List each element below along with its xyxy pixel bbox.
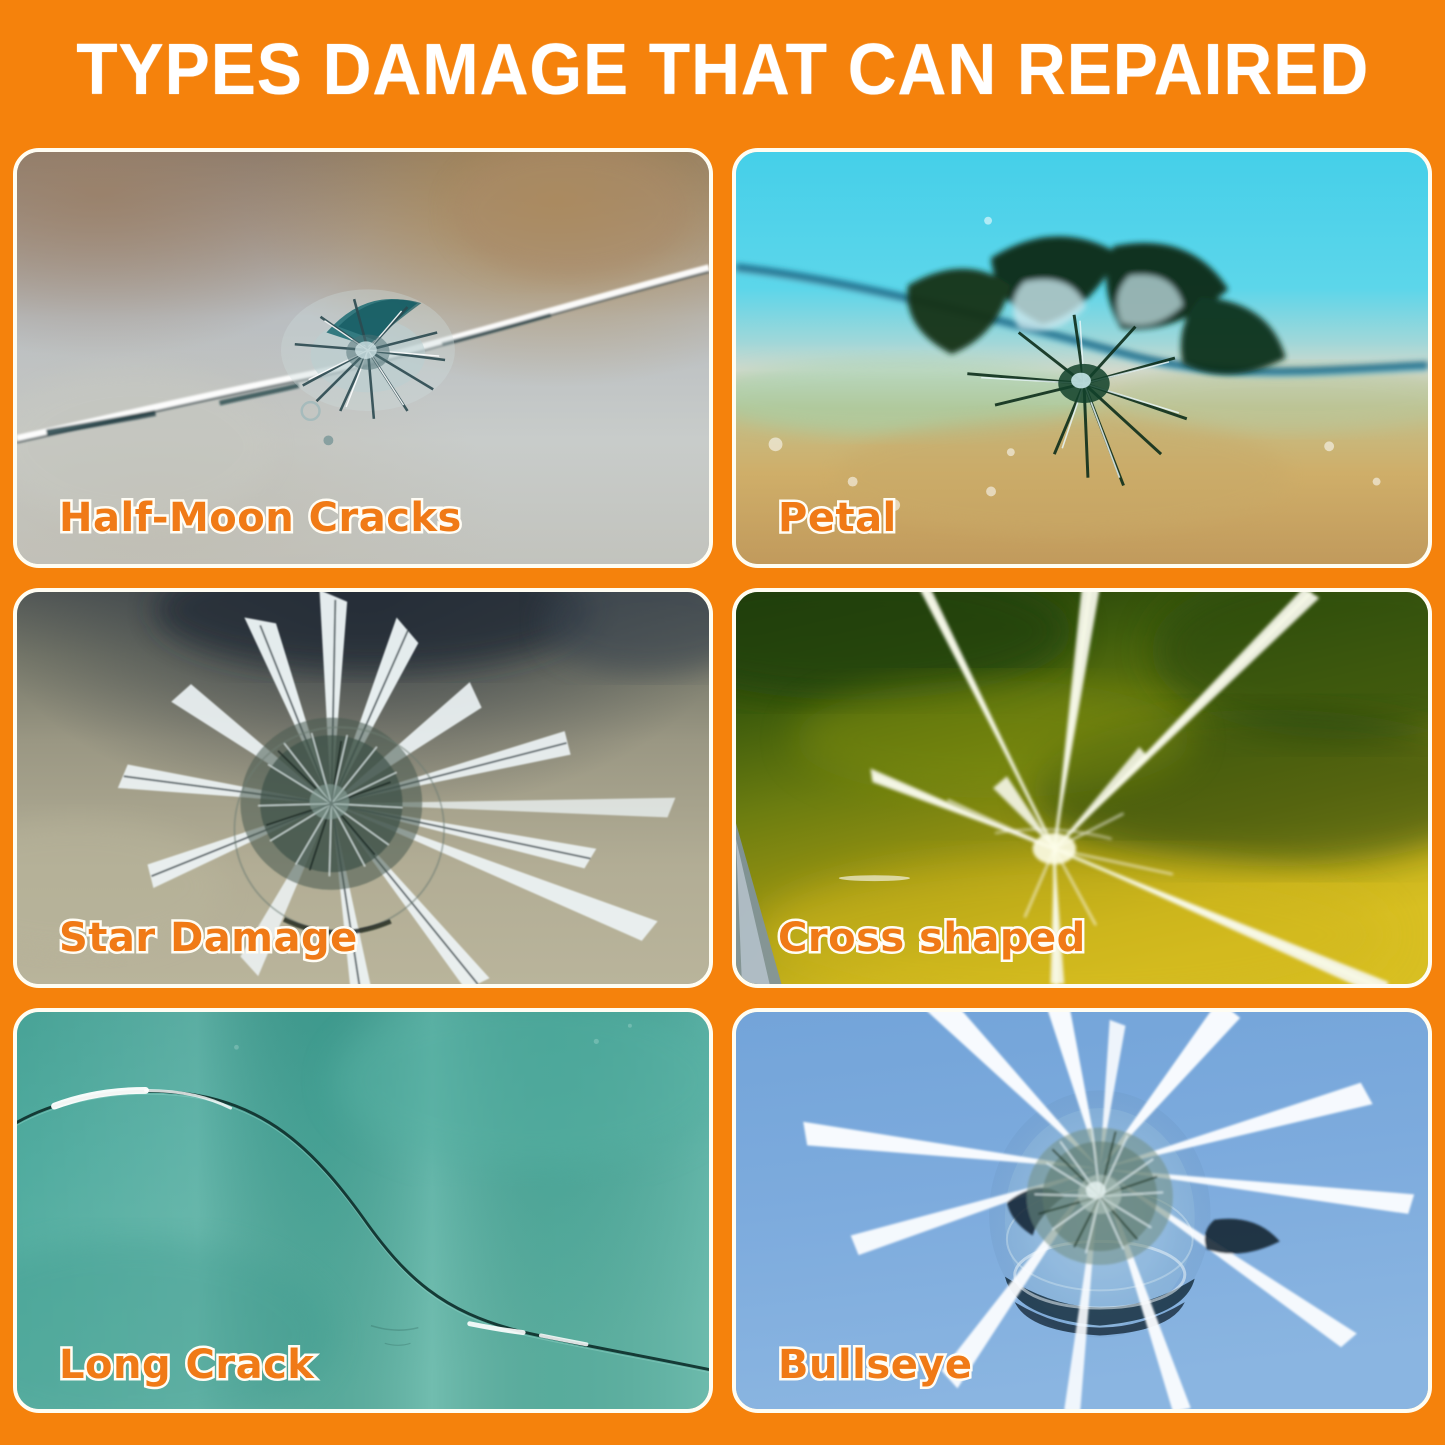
- panel-long-crack[interactable]: Long Crack: [13, 1008, 713, 1413]
- panel-label-cross-shaped: Cross shaped: [778, 918, 1086, 958]
- panel-label-petal: Petal: [778, 498, 897, 538]
- panel-label-half-moon-cracks: Half-Moon Cracks: [59, 498, 462, 538]
- panel-petal[interactable]: Petal: [732, 148, 1432, 568]
- panel-cross-shaped[interactable]: Cross shaped: [732, 588, 1432, 988]
- panel-label-long-crack: Long Crack: [59, 1345, 314, 1385]
- poster-root: TYPES DAMAGE THAT CAN REPAIRED: [0, 0, 1445, 1445]
- panel-star-damage[interactable]: Star Damage: [13, 588, 713, 988]
- panel-half-moon-cracks[interactable]: Half-Moon Cracks: [13, 148, 713, 568]
- poster-header: TYPES DAMAGE THAT CAN REPAIRED: [0, 0, 1445, 140]
- damage-type-grid: Half-Moon Cracks: [13, 148, 1432, 1425]
- panel-bullseye[interactable]: Bullseye: [732, 1008, 1432, 1413]
- panel-label-bullseye: Bullseye: [778, 1345, 973, 1385]
- panel-label-star-damage: Star Damage: [59, 918, 358, 958]
- page-title: TYPES DAMAGE THAT CAN REPAIRED: [76, 34, 1369, 106]
